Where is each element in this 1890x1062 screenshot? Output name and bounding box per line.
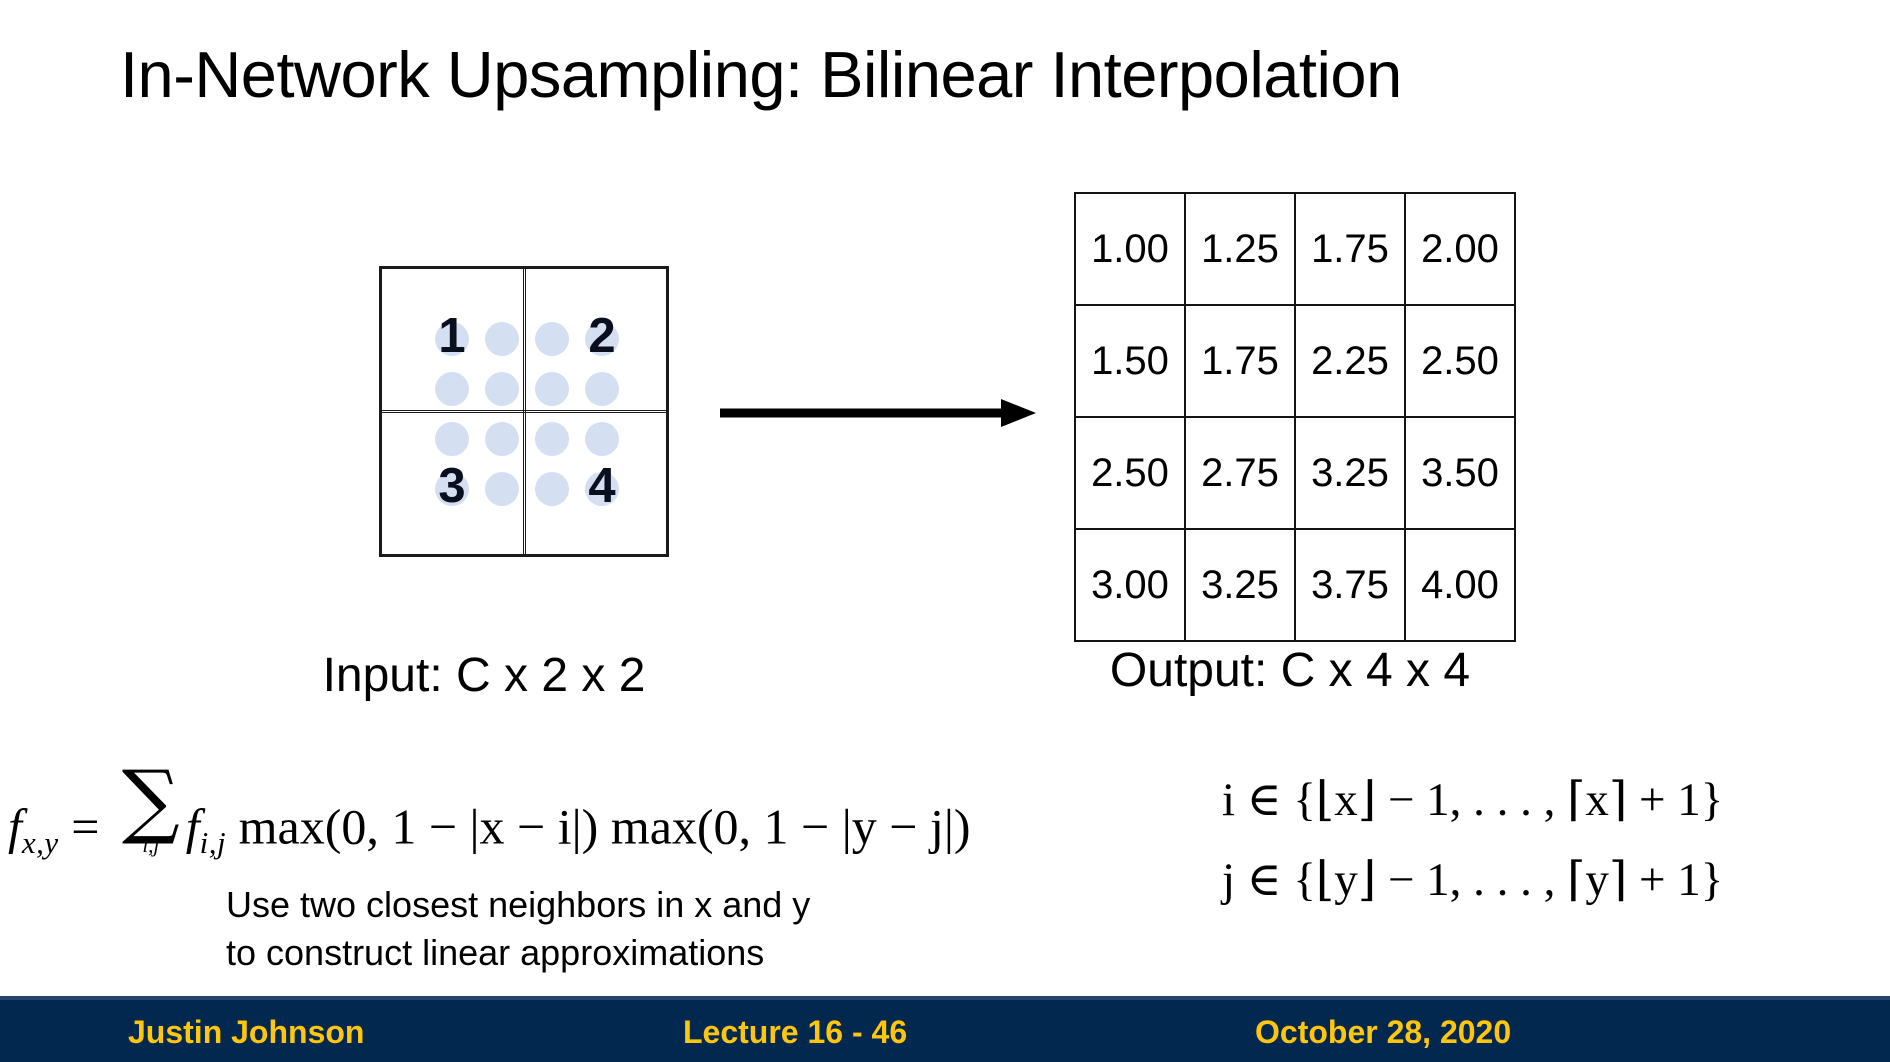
output-feature-map-table: 1.00 1.25 1.75 2.00 1.50 1.75 2.25 2.50 … [1074,192,1516,642]
output-cell: 2.00 [1405,193,1515,305]
table-row: 2.50 2.75 3.25 3.50 [1075,417,1515,529]
formula-max-x-factor: max(0, 1 − |x − i|) [239,798,599,854]
formula-max-y-factor: max(0, 1 − |y − j|) [611,798,971,854]
footer-author: Justin Johnson [128,1014,364,1051]
output-cell: 3.25 [1295,417,1405,529]
table-row: 3.00 3.25 3.75 4.00 [1075,529,1515,641]
formula-term-subscript: i,j [200,825,226,860]
footer-lecture-number: Lecture 16 - 46 [683,1014,907,1051]
output-cell: 3.25 [1185,529,1295,641]
output-cell: 1.75 [1185,305,1295,417]
sigma-icon: ∑ [122,766,180,837]
output-cell: 3.75 [1295,529,1405,641]
index-set-i-formula: i ∈ {⌊x⌋ − 1, . . . , ⌈x⌉ + 1} [1222,772,1723,827]
input-feature-map: 1 2 3 4 [379,266,669,557]
formula-lhs-subscript: x,y [22,825,59,860]
explanation-note: Use two closest neighbors in x and y to … [226,881,810,977]
output-cell: 2.50 [1405,305,1515,417]
input-caption: Input: C x 2 x 2 [274,648,694,703]
output-cell: 1.00 [1075,193,1185,305]
footer-date: October 28, 2020 [1255,1014,1511,1051]
output-cell: 1.25 [1185,193,1295,305]
output-cell: 1.50 [1075,305,1185,417]
input-grid-cell [381,268,526,414]
input-grid-cell [523,410,668,556]
output-cell: 1.75 [1295,193,1405,305]
note-line-2: to construct linear approximations [226,929,810,977]
table-row: 1.00 1.25 1.75 2.00 [1075,193,1515,305]
note-line-1: Use two closest neighbors in x and y [226,881,810,929]
input-grid-cell [381,410,526,556]
output-cell: 2.50 [1075,417,1185,529]
output-caption: Output: C x 4 x 4 [1070,643,1510,698]
output-cell: 2.75 [1185,417,1295,529]
rightwards-arrow-icon [718,396,1038,430]
index-set-j-formula: j ∈ {⌊y⌋ − 1, . . . , ⌈y⌉ + 1} [1222,852,1723,907]
formula-lhs-symbol: f [8,798,22,854]
output-cell: 3.00 [1075,529,1185,641]
input-grid-cell [523,268,668,414]
formula-equals: = [71,798,99,854]
bilinear-interpolation-formula: fx,y = ∑ i,j fi,j max(0, 1 − |x − i|) ma… [8,766,971,861]
page-title: In-Network Upsampling: Bilinear Interpol… [120,38,1780,113]
output-cell: 3.50 [1405,417,1515,529]
input-grid [379,266,669,557]
output-cell: 2.25 [1295,305,1405,417]
formula-term-symbol: f [186,798,200,854]
slide-footer: Justin Johnson Lecture 16 - 46 October 2… [0,996,1890,1062]
table-row: 1.50 1.75 2.25 2.50 [1075,305,1515,417]
output-cell: 4.00 [1405,529,1515,641]
summation-operator: ∑ i,j [122,766,180,856]
